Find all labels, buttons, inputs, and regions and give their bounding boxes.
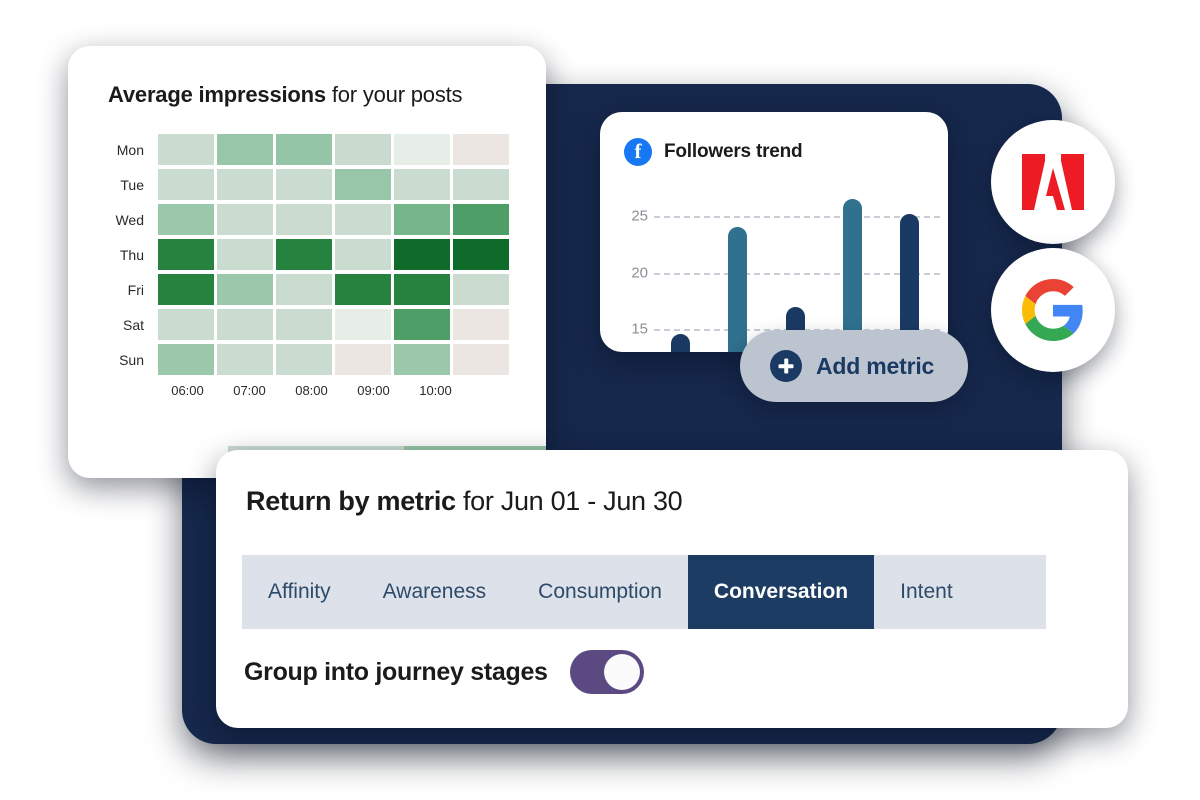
tab-consumption[interactable]: Consumption [512,555,688,629]
heatmap-cell[interactable] [335,204,391,235]
plus-circle-icon [770,350,802,382]
heatmap-x-tick: 08:00 [282,383,341,398]
heatmap-cell[interactable] [453,344,509,375]
adobe-badge[interactable] [991,120,1115,244]
heatmap-cell[interactable] [394,134,450,165]
heatmap-cell[interactable] [335,239,391,270]
heatmap-cell[interactable] [394,274,450,305]
heatmap-row: Wed [68,202,546,237]
heatmap-cell[interactable] [217,204,273,235]
heatmap-row: Fri [68,272,546,307]
heatmap-cell[interactable] [453,239,509,270]
heatmap-row-cells [158,239,509,270]
followers-y-axis: 152025 [600,182,654,352]
heatmap-row: Tue [68,167,546,202]
heatmap-row-label: Wed [68,212,158,228]
heatmap-x-tick: 07:00 [220,383,279,398]
heatmap-row: Mon [68,132,546,167]
heatmap-cell[interactable] [394,204,450,235]
heatmap-cell[interactable] [394,309,450,340]
heatmap-cell[interactable] [276,169,332,200]
heatmap-row-cells [158,344,509,375]
heatmap-cell[interactable] [158,239,214,270]
journey-stages-label: Group into journey stages [244,658,548,687]
heatmap-cell[interactable] [335,344,391,375]
heatmap-row: Sat [68,307,546,342]
add-metric-button[interactable]: Add metric [740,330,968,402]
heatmap-cell[interactable] [217,344,273,375]
followers-trend-card: Followers trend 152025 [600,112,948,352]
heatmap-cell[interactable] [453,204,509,235]
heatmap-cell[interactable] [335,169,391,200]
return-by-metric-card: Return by metric for Jun 01 - Jun 30 Aff… [216,450,1128,728]
heatmap-cell[interactable] [158,274,214,305]
heatmap-cell[interactable] [276,204,332,235]
heatmap-cell[interactable] [276,309,332,340]
followers-bar-chart: 152025 [600,182,948,352]
followers-bar[interactable] [728,227,747,352]
facebook-icon [624,138,652,166]
heatmap-cell[interactable] [158,309,214,340]
heatmap-x-tick: 06:00 [158,383,217,398]
tab-awareness[interactable]: Awareness [357,555,513,629]
return-title-rest: for Jun 01 - Jun 30 [456,486,683,516]
heatmap-cell[interactable] [217,309,273,340]
return-card-title: Return by metric for Jun 01 - Jun 30 [246,486,682,517]
heatmap-cell[interactable] [217,134,273,165]
heatmap-x-axis: 06:0007:0008:0009:0010:00 [158,383,546,398]
heatmap-title-rest: for your posts [326,82,462,107]
followers-bar[interactable] [671,334,690,352]
heatmap-grid: MonTueWedThuFriSatSun [68,132,546,377]
heatmap-cell[interactable] [276,239,332,270]
heatmap-row-label: Thu [68,247,158,263]
heatmap-cell[interactable] [158,344,214,375]
tab-conversation[interactable]: Conversation [688,555,874,629]
composition-stage: Average impressions for your posts MonTu… [0,0,1200,800]
heatmap-cell[interactable] [453,274,509,305]
heatmap-cell[interactable] [217,169,273,200]
heatmap-cell[interactable] [394,169,450,200]
heatmap-x-tick: 09:00 [344,383,403,398]
metric-tabs[interactable]: AffinityAwarenessConsumptionConversation… [242,555,1046,629]
heatmap-x-tick [468,383,527,398]
heatmap-row: Thu [68,237,546,272]
journey-stages-toggle[interactable] [570,650,644,694]
heatmap-cell[interactable] [453,309,509,340]
google-logo-icon [1022,279,1084,341]
heatmap-row-label: Sun [68,352,158,368]
heatmap-x-tick: 10:00 [406,383,465,398]
heatmap-card-title: Average impressions for your posts [108,82,462,108]
heatmap-row-cells [158,204,509,235]
return-title-bold: Return by metric [246,486,456,516]
heatmap-cell[interactable] [335,274,391,305]
followers-y-tick: 20 [631,264,648,281]
adobe-logo-icon [1022,154,1084,210]
heatmap-cell[interactable] [335,309,391,340]
heatmap-row-label: Fri [68,282,158,298]
toggle-knob [604,654,640,690]
heatmap-row-label: Sat [68,317,158,333]
heatmap-row-cells [158,309,509,340]
heatmap-row-label: Tue [68,177,158,193]
heatmap-cell[interactable] [276,344,332,375]
heatmap-cell[interactable] [158,204,214,235]
tab-intent[interactable]: Intent [874,555,979,629]
heatmap-cell[interactable] [394,344,450,375]
journey-stages-row: Group into journey stages [244,650,644,694]
heatmap-cell[interactable] [217,239,273,270]
heatmap-row-cells [158,134,509,165]
heatmap-cell[interactable] [158,169,214,200]
followers-bars [654,182,940,352]
heatmap-row: Sun [68,342,546,377]
heatmap-cell[interactable] [453,169,509,200]
heatmap-row-cells [158,274,509,305]
add-metric-label: Add metric [816,353,934,380]
followers-card-header: Followers trend [624,138,802,166]
heatmap-cell[interactable] [158,134,214,165]
average-impressions-card: Average impressions for your posts MonTu… [68,46,546,478]
google-badge[interactable] [991,248,1115,372]
followers-card-title: Followers trend [664,141,802,163]
heatmap-cell[interactable] [276,274,332,305]
heatmap-cell[interactable] [276,134,332,165]
heatmap-row-label: Mon [68,142,158,158]
tab-affinity[interactable]: Affinity [242,555,357,629]
heatmap-row-cells [158,169,509,200]
heatmap-plot: MonTueWedThuFriSatSun 06:0007:0008:0009:… [68,132,546,398]
followers-y-tick: 15 [631,321,648,338]
heatmap-cell[interactable] [217,274,273,305]
followers-y-tick: 25 [631,208,648,225]
heatmap-title-bold: Average impressions [108,82,326,107]
heatmap-cell[interactable] [335,134,391,165]
heatmap-cell[interactable] [394,239,450,270]
heatmap-cell[interactable] [453,134,509,165]
